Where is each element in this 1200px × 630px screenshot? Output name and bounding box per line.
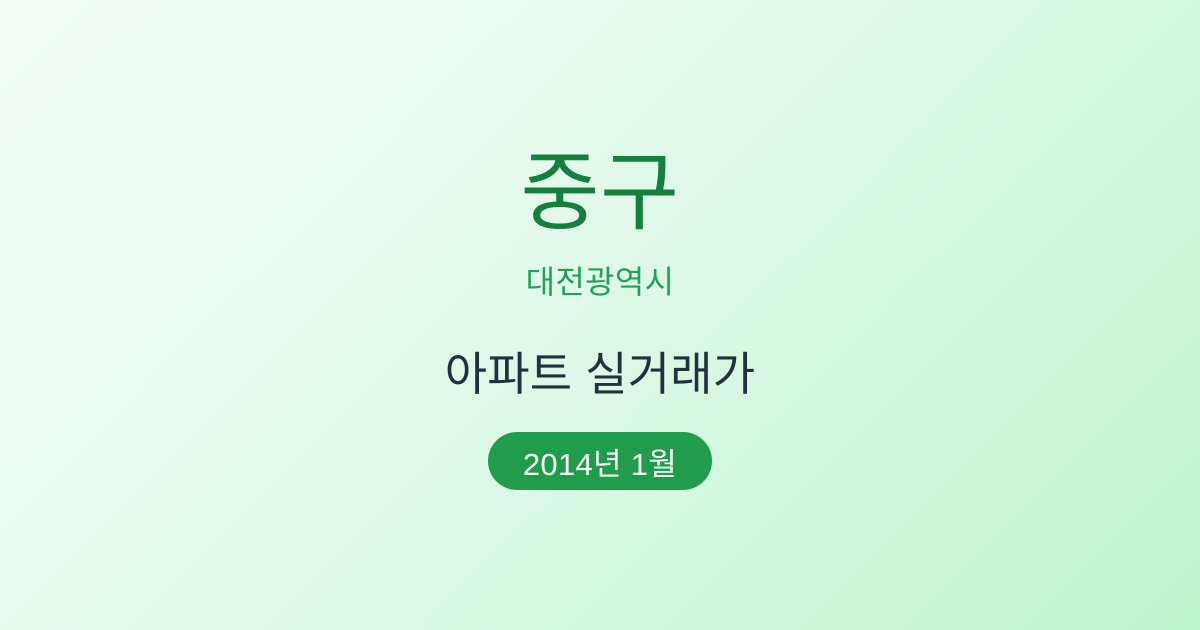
content-stack: 중구 대전광역시 아파트 실거래가 2014년 1월: [0, 150, 1200, 490]
page-title: 아파트 실거래가: [445, 351, 756, 397]
period-badge: 2014년 1월: [488, 432, 712, 490]
region-parent-label: 대전광역시: [526, 266, 675, 298]
region-title: 중구: [520, 150, 679, 236]
og-card: 중구 대전광역시 아파트 실거래가 2014년 1월: [0, 0, 1200, 630]
